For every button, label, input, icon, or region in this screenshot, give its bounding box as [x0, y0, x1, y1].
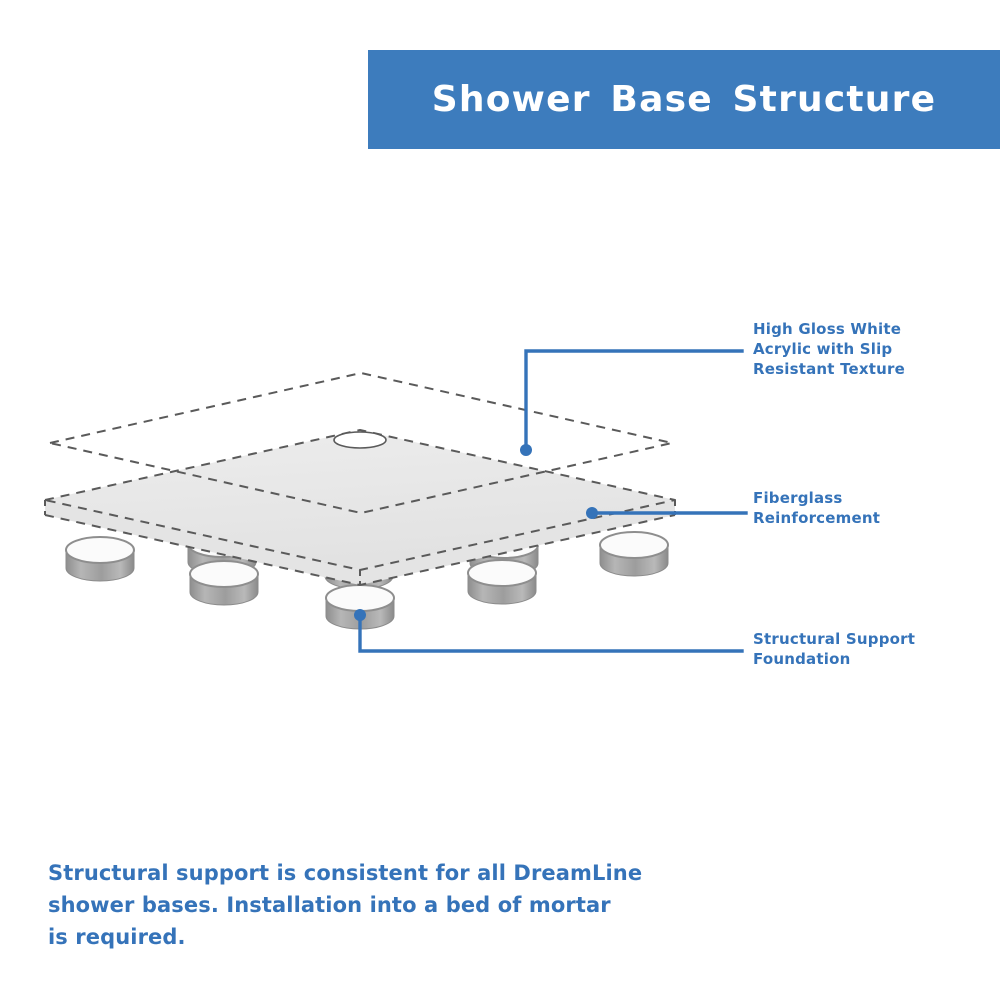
- fiberglass-slab: [45, 430, 675, 585]
- acrylic-top-plate: [50, 373, 672, 513]
- header-banner: Shower Base Structure: [368, 50, 1000, 149]
- support-ring: [468, 560, 536, 604]
- page-title: Shower Base Structure: [432, 82, 936, 118]
- callout-label-support: Structural Support Foundation: [753, 630, 993, 670]
- support-ring-highlighted: [326, 585, 394, 629]
- leader-line-support: [354, 609, 742, 651]
- leader-line-fiberglass: [586, 507, 746, 519]
- support-ring: [190, 561, 258, 605]
- support-ring: [325, 545, 393, 589]
- footer-note: Structural support is consistent for all…: [48, 858, 688, 954]
- support-ring: [600, 532, 668, 576]
- support-rings-group: [66, 531, 668, 629]
- callout-label-acrylic: High Gloss White Acrylic with Slip Resis…: [753, 320, 993, 379]
- drain-opening: [334, 432, 386, 448]
- poster-canvas: Shower Base Structure: [0, 0, 1000, 1000]
- support-ring: [470, 532, 538, 576]
- support-ring: [66, 537, 134, 581]
- support-ring: [188, 531, 256, 575]
- leader-line-acrylic: [520, 351, 742, 456]
- leader-lines-group: [354, 351, 746, 651]
- callout-label-fiberglass: Fiberglass Reinforcement: [753, 489, 993, 529]
